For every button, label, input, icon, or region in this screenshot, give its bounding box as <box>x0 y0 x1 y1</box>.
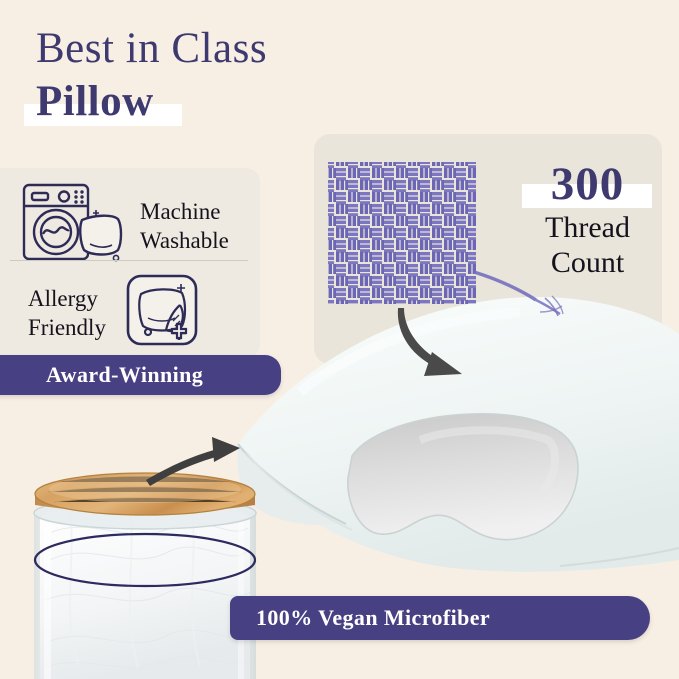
award-winning-ribbon: Award-Winning <box>0 355 281 395</box>
thread-count-number: 300 <box>551 158 625 210</box>
pillow-feather-plus-icon <box>124 272 200 353</box>
feature-machine-washable: Machine Washable <box>18 180 229 271</box>
headline-line-1: Best in Class <box>36 24 456 74</box>
feature-divider <box>10 260 248 261</box>
headline-line-2: Pillow <box>36 78 154 125</box>
vegan-microfiber-ribbon: 100% Vegan Microfiber <box>230 596 650 640</box>
arrow-jar-to-pillow <box>146 437 240 486</box>
award-winning-label: Award-Winning <box>46 362 203 388</box>
vegan-microfiber-label: 100% Vegan Microfiber <box>256 605 490 631</box>
thread-count-label-line-2: Count <box>520 245 655 280</box>
page-title: Best in Class Pillow <box>36 24 456 126</box>
washing-machine-pillow-icon <box>18 180 126 271</box>
thread-count-label-line-1: Thread <box>520 210 655 245</box>
feature-label-allergy-friendly: Allergy Friendly <box>28 284 106 342</box>
headline-line-2-wrap: Pillow <box>36 78 456 126</box>
thread-count-block: 300 Thread Count <box>520 158 655 280</box>
feature-label-machine-washable: Machine Washable <box>140 197 229 255</box>
infographic-canvas: Best in Class Pillow <box>0 0 679 679</box>
feature-allergy-friendly: Allergy Friendly <box>28 272 200 353</box>
thread-count-number-wrap: 300 <box>520 158 655 210</box>
arrow-swatch-to-pillow <box>398 308 462 376</box>
